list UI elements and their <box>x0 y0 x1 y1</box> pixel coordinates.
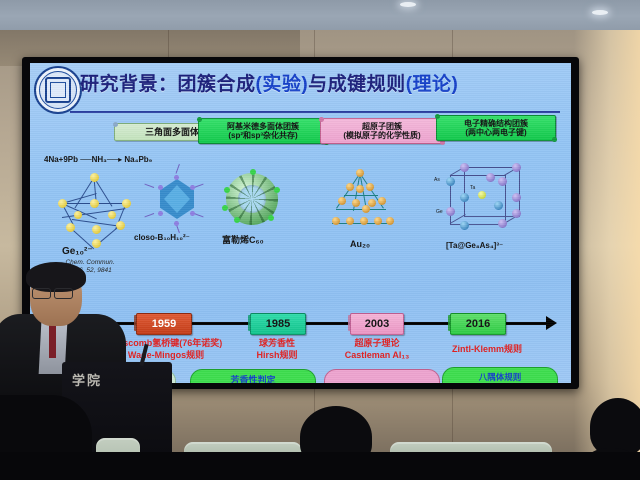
concept-box-2-line2: (sp²和sp³杂化共存) <box>204 131 322 140</box>
rule-2003-line2: Castleman Al₁₃ <box>345 350 410 360</box>
atom-au <box>366 183 374 191</box>
atom-b <box>190 211 195 216</box>
title-divider <box>70 111 560 113</box>
atom-au <box>338 197 346 205</box>
atom-label-ge: Ge <box>436 209 443 215</box>
summary-box-3: 幻数(magic NO) 闭壳层电子构型 <box>324 369 440 383</box>
summary-2-head: 芳香性判定 <box>194 374 312 383</box>
atom-as <box>460 221 469 230</box>
molecule-closo-borane <box>146 171 210 233</box>
atom-au <box>374 217 382 225</box>
rule-2003-line1: 超原子理论 <box>354 338 399 348</box>
atom-ge <box>90 199 99 208</box>
concept-box-3-line2: (模拟原子的化学性质) <box>326 131 438 140</box>
atom-b <box>158 185 163 190</box>
atom-au <box>362 205 370 213</box>
rule-1959-line1: Lipscomb氢桥键(76年诺奖) <box>110 338 223 348</box>
speaker-glasses-right <box>54 288 73 299</box>
atom-c <box>224 187 230 193</box>
university-seal-logo <box>34 66 82 114</box>
atom-ge <box>58 199 67 208</box>
atom-au <box>346 217 354 225</box>
atom-as <box>446 177 455 186</box>
rule-1985-line2: Hirsh规则 <box>256 350 297 360</box>
atom-ge <box>486 173 495 182</box>
atom-b <box>174 175 179 180</box>
molecule-label-ge10: Ge₁₀²⁻ <box>62 246 93 257</box>
atom-ge <box>498 177 507 186</box>
rule-label-2003: 超原子理论 Castleman Al₁₃ <box>328 338 426 361</box>
atom-ge <box>512 193 521 202</box>
pin-icon <box>197 117 202 122</box>
atom-ge <box>498 219 507 228</box>
atom-c <box>268 215 274 221</box>
atom-b <box>190 185 195 190</box>
atom-ge <box>108 211 116 219</box>
timeline-year-1985: 1985 <box>250 313 306 335</box>
concept-box-3: 超原子团簇 (模拟原子的化学性质) <box>320 118 444 144</box>
molecule-label-ta-cage: [Ta@Ge₈As₄]³⁻ <box>446 241 503 250</box>
rule-label-1985: 球芳香性 Hirsh规则 <box>232 338 322 361</box>
timeline-year-2016: 2016 <box>450 313 506 335</box>
atom-ge <box>512 163 521 172</box>
concept-box-2-line1: 阿基米德多面体团簇 <box>227 122 299 131</box>
atom-au <box>356 185 364 193</box>
timeline-year-2003: 2003 <box>350 313 404 335</box>
atom-b <box>158 211 163 216</box>
pin-icon <box>113 122 118 127</box>
atom-as <box>460 193 469 202</box>
concept-box-1-line1: 三角面多面体 <box>145 127 199 137</box>
timeline-year-1959: 1959 <box>136 313 192 335</box>
timeline-arrow-icon <box>546 316 557 330</box>
atom-au <box>378 197 386 205</box>
rule-1985-line1: 球芳香性 <box>259 338 295 348</box>
molecule-fullerene-c60 <box>220 169 284 231</box>
atom-as <box>494 201 503 210</box>
atom-au <box>360 217 368 225</box>
pin-icon <box>435 114 440 119</box>
molecule-label-closo-borane: closo-B₁₀H₁₀²⁻ <box>134 233 190 242</box>
atom-ge <box>512 209 521 218</box>
atom-ge <box>116 221 125 230</box>
molecule-label-fullerene: 富勒烯C₆₀ <box>222 233 264 246</box>
ceiling-light-1 <box>400 2 416 7</box>
summary-box-4: 八隅体规则 全定域键 Ta⁵⁺(Ge⁻)₈(As⁰)₄ 总价电子数: 60 <box>442 367 558 383</box>
atom-au <box>356 169 364 177</box>
atom-au <box>346 183 354 191</box>
atom-ge <box>74 211 82 219</box>
concept-box-2: 阿基米德多面体团簇 (sp²和sp³杂化共存) <box>198 118 328 144</box>
title-middle: 与成键规则 <box>308 74 406 95</box>
atom-ge <box>66 223 75 232</box>
atom-label-as: As <box>434 177 440 183</box>
concept-box-4-line1: 电子精确结构团簇 <box>464 119 528 128</box>
title-prefix: 研究背景：团簇合成 <box>80 74 256 95</box>
atom-ta <box>478 191 486 199</box>
atom-b <box>174 221 179 226</box>
reaction-equation: 4Na+9Pb ──NH₃──▸ Na₄Pb₉ <box>44 155 152 164</box>
concept-box-4: 电子精确结构团簇 (两中心两电子键) <box>436 115 556 141</box>
atom-c <box>234 217 240 223</box>
atom-c <box>222 205 228 211</box>
summary-4-head: 八隅体规则 <box>446 372 554 383</box>
pin-icon <box>552 137 557 142</box>
molecule-ta-ge-as-cage: As Ta Ge <box>434 163 530 241</box>
atom-label-ta: Ta <box>470 185 475 191</box>
title-emphasis-2: (理论) <box>406 74 459 95</box>
rule-2016-line1: Zintl-Klemm规则 <box>452 344 522 354</box>
ceiling-light-2 <box>592 10 608 15</box>
atom-ge <box>92 225 101 234</box>
page-title: 研究背景：团簇合成(实验)与成键规则(理论) <box>80 69 550 96</box>
molecule-ge10-cluster <box>48 169 144 247</box>
atom-au <box>352 199 360 207</box>
rule-label-2016: Zintl-Klemm规则 <box>432 344 542 356</box>
rule-1959-line2: Wade-Mingos规则 <box>128 350 204 360</box>
speaker-glasses-left <box>32 288 51 299</box>
atom-c <box>250 169 256 175</box>
atom-au <box>332 217 340 225</box>
pin-icon <box>440 140 445 145</box>
atom-ge <box>460 163 469 172</box>
atom-c <box>274 187 280 193</box>
atom-ge <box>92 239 101 248</box>
title-emphasis-1: (实验) <box>256 74 309 95</box>
molecule-au20-pyramid <box>322 167 402 239</box>
speaker-tie <box>49 324 56 358</box>
seal-center-glyph <box>45 77 71 103</box>
foreground-shadow <box>0 452 640 480</box>
concept-box-3-line1: 超原子团簇 <box>362 122 402 131</box>
atom-ge <box>122 199 131 208</box>
pin-icon <box>319 117 324 122</box>
podium-sign: 学院 <box>72 370 156 396</box>
atom-ge <box>90 173 99 182</box>
lecture-hall-photo: 研究背景：团簇合成(实验)与成键规则(理论) 三角面多面体 阿基米德多面体团簇 … <box>0 0 640 480</box>
concept-box-4-line2: (两中心两电子键) <box>442 128 550 137</box>
atom-au <box>386 217 394 225</box>
atom-ge <box>446 207 455 216</box>
molecule-label-au20: Au₂₀ <box>350 239 370 249</box>
summary-box-2: 芳香性判定 电子离域 2(n+1)²判据 <box>190 369 316 383</box>
